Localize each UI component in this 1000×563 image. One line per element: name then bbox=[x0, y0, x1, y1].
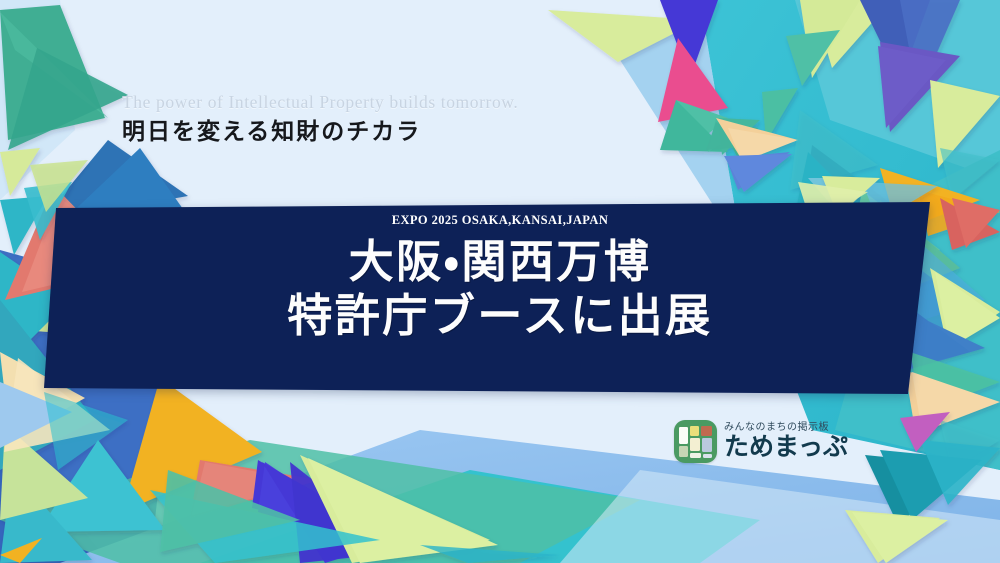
logo-name: ためまっぷ bbox=[724, 434, 848, 460]
tamemap-app-icon bbox=[674, 420, 717, 463]
logo-tile-6 bbox=[690, 453, 701, 458]
tamemap-logo[interactable]: みんなのまちの掲示板 ためまっぷ bbox=[674, 420, 848, 463]
tagline-english: The power of Intellectual Property build… bbox=[122, 92, 518, 114]
tagline-block: The power of Intellectual Property build… bbox=[122, 92, 518, 147]
tagline-japanese: 明日を変える知財のチカラ bbox=[122, 116, 518, 147]
logo-tile-1 bbox=[690, 426, 699, 436]
logo-tile-0 bbox=[679, 427, 688, 444]
main-banner: EXPO 2025 OSAKA,KANSAI,JAPAN 大阪・関西万博 特許庁… bbox=[0, 196, 1000, 402]
logo-tile-7 bbox=[703, 454, 712, 458]
logo-text: みんなのまちの掲示板 ためまっぷ bbox=[724, 422, 848, 460]
logo-tile-4 bbox=[702, 438, 712, 452]
logo-tile-3 bbox=[690, 438, 700, 451]
bulletin-board-tiles-icon bbox=[674, 420, 717, 463]
poster-canvas: The power of Intellectual Property build… bbox=[0, 0, 1000, 563]
banner-title-line1: 大阪・関西万博 bbox=[349, 235, 652, 290]
logo-tile-2 bbox=[701, 426, 712, 436]
banner-eyebrow: EXPO 2025 OSAKA,KANSAI,JAPAN bbox=[392, 213, 609, 228]
banner-title-line2: 特許庁ブースに出展 bbox=[287, 289, 712, 344]
logo-tile-5 bbox=[679, 446, 688, 457]
banner-content: EXPO 2025 OSAKA,KANSAI,JAPAN 大阪・関西万博 特許庁… bbox=[0, 196, 1000, 402]
